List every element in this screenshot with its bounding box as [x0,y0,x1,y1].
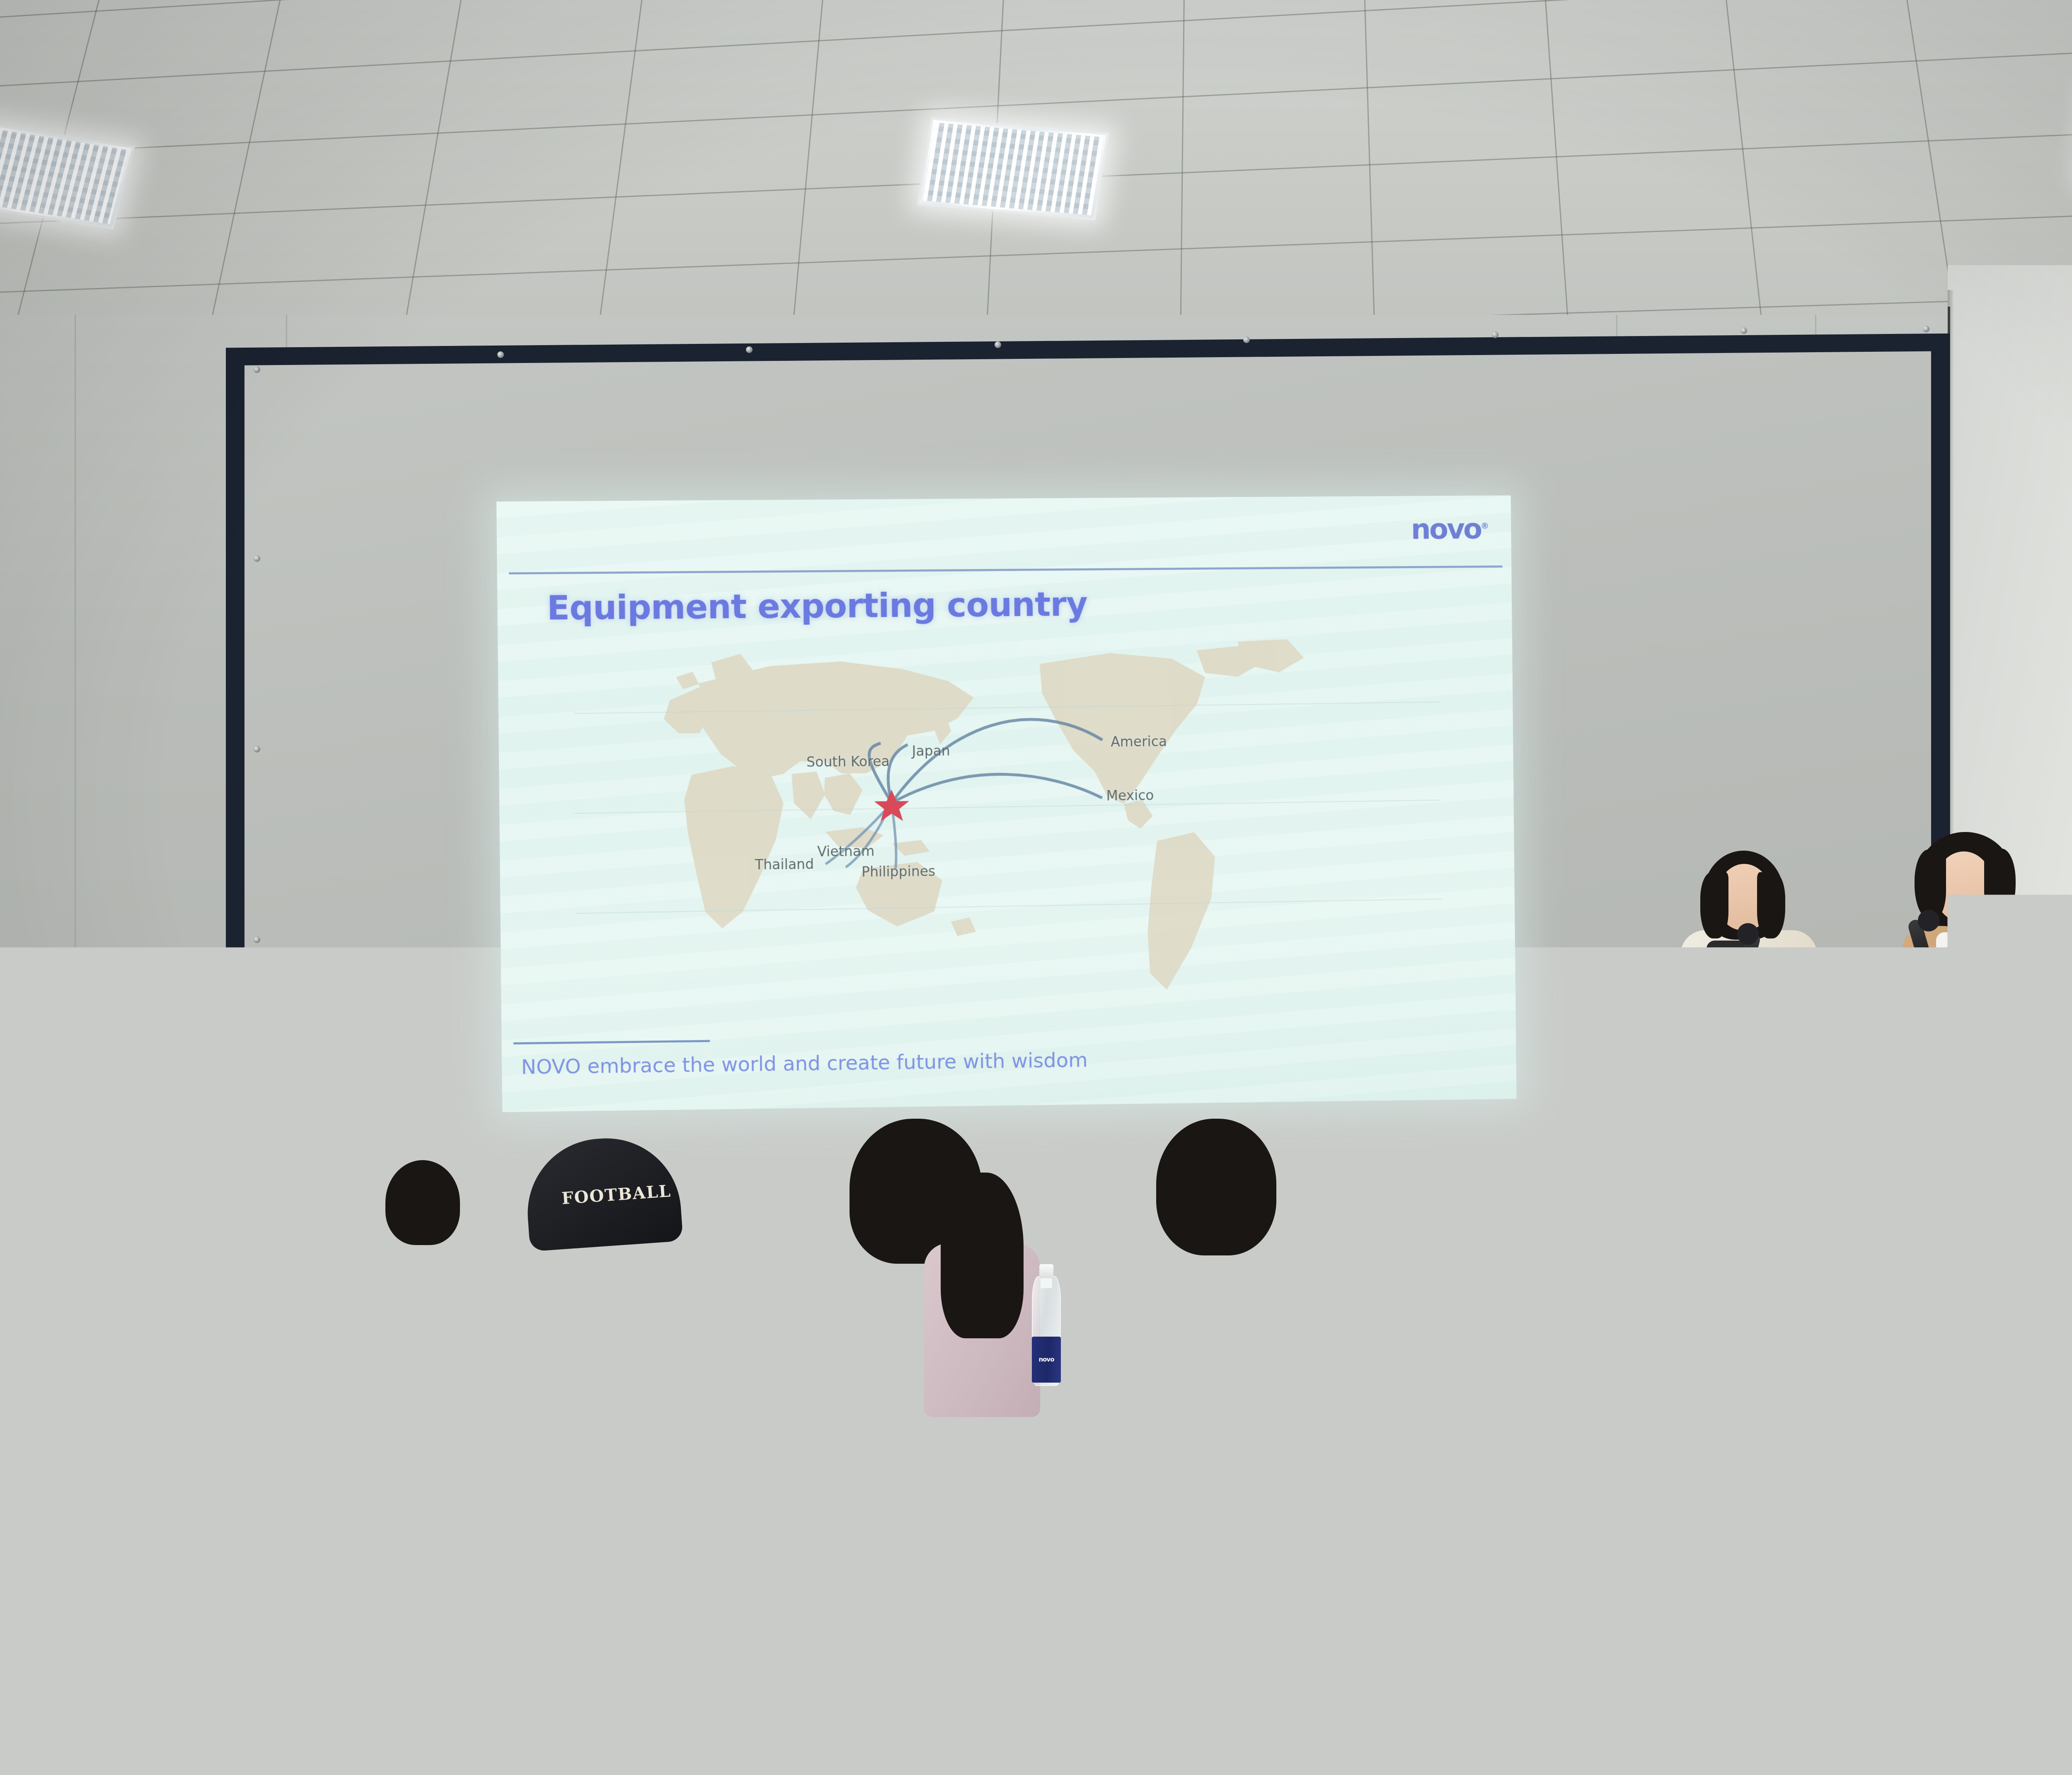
bottle-subbrand: 沃格装备 [362,1385,380,1392]
bottle-brand: novo [1336,1391,1353,1399]
water-bottle[interactable]: novo [1032,1276,1061,1386]
map-label-japan: Japan [912,742,950,759]
slide-logo-text: novo [1411,513,1481,546]
world-map: South Korea Japan America Mexico Thailan… [573,632,1443,1038]
water-bottle[interactable]: novo 沃格装备 [354,1293,387,1413]
map-label-mexico: Mexico [1106,787,1154,804]
bottle-brand: novo [66,1490,86,1499]
novo-logo-icon: novo® [1411,513,1489,546]
bottle-brand: novo [748,1279,762,1286]
tablet-icon [1439,1187,1485,1253]
bottle-brand: novo [739,1714,773,1729]
microphone-head-icon [1737,923,1759,945]
map-label-america: America [1111,733,1167,750]
chair [53,1532,286,1625]
registered-mark-icon: ® [1481,521,1489,531]
chair [32,1322,241,1396]
water-bottle-foreground[interactable]: novo 沃格装备 [729,1577,782,1775]
bottle-subbrand: 沃格装备 [404,1500,424,1507]
map-landmasses [663,639,1307,995]
bottle-subbrand: 沃格装备 [247,1289,264,1295]
world-map-svg [573,632,1443,1038]
bottle-brand: novo [15,1281,31,1289]
bottle-brand: novo [362,1376,380,1384]
bottle-brand: novo [404,1490,424,1499]
map-label-thailand: Thailand [755,856,814,873]
slide-title: Equipment exporting country [547,585,1087,628]
water-bottle[interactable]: novo 沃格装备 [58,1400,94,1529]
bottle-subbrand: 沃格装备 [740,1730,772,1741]
slide-divider-bottom [513,1040,710,1045]
map-label-south-korea: South Korea [806,753,890,770]
slide-tagline: NOVO embrace the world and create future… [521,1049,1088,1079]
vest-collar [1819,1550,2072,1632]
bottle-brand: novo [1193,1712,1228,1728]
ceiling-light-panel [917,117,1109,221]
water-bottle[interactable]: novo 沃格装备 [396,1400,432,1530]
bottle-subbrand: 沃格装备 [15,1290,31,1296]
projected-slide: novo® Equipment exporting country [496,496,1517,1112]
water-bottle-foreground[interactable]: novo 沃格装备 [1183,1574,1238,1775]
water-bottle[interactable]: novo 沃格装备 [240,1202,271,1314]
bottle-subbrand: 沃格装备 [1194,1729,1227,1741]
water-bottle[interactable]: novo [742,1204,769,1307]
slide-divider-top [509,566,1503,575]
map-label-philippines: Philippines [862,863,936,880]
water-bottle[interactable]: novo [1328,1305,1360,1423]
map-label-vietnam: Vietnam [817,843,874,859]
bottle-brand: novo [1038,1356,1054,1363]
bottle-brand: novo [247,1280,264,1288]
bottle-subbrand: 沃格装备 [66,1499,86,1507]
conference-room-photo: novo® Equipment exporting country [0,0,2072,1775]
water-bottle[interactable]: novo 沃格装备 [7,1204,38,1316]
podium-novo-logo-icon: novo [1796,1007,1886,1048]
microphone-head-icon [1918,910,1939,931]
